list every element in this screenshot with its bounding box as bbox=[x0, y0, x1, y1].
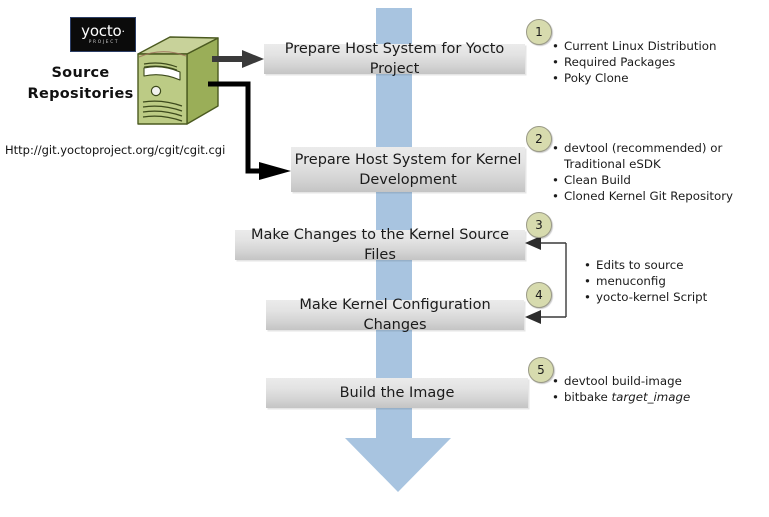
list-item: yocto-kernel Script bbox=[584, 289, 707, 305]
server-icon bbox=[130, 32, 222, 142]
steps3-4-shared-bullet-list: Edits to source menuconfig yocto-kernel … bbox=[584, 257, 707, 305]
logo-wordmark: yocto· bbox=[81, 24, 125, 39]
step-number-badge-3: 3 bbox=[526, 212, 552, 238]
source-repositories-line1: Source bbox=[18, 63, 143, 84]
step-number-badge-4: 4 bbox=[526, 282, 552, 308]
step-number-badge-1: 1 bbox=[526, 19, 552, 45]
step-number-badge-2: 2 bbox=[526, 126, 552, 152]
source-repositories-line2: Repositories bbox=[18, 84, 143, 105]
process-box-prepare-host-kernel[interactable]: Prepare Host System for Kernel Developme… bbox=[291, 147, 525, 192]
step-number-badge-5: 5 bbox=[528, 357, 554, 383]
list-item: Current Linux Distribution bbox=[552, 38, 716, 54]
step-number-text: 1 bbox=[535, 25, 543, 39]
list-item: Edits to source bbox=[584, 257, 707, 273]
list-item: Clean Build bbox=[552, 172, 733, 188]
process-box-make-kernel-config-changes[interactable]: Make Kernel Configuration Changes bbox=[266, 300, 524, 330]
workflow-spine-arrowhead-icon bbox=[345, 438, 451, 492]
logo-wordmark-text: yocto bbox=[81, 22, 121, 40]
process-box-label: Prepare Host System for Yocto Project bbox=[264, 39, 525, 79]
logo-subtext: PROJECT bbox=[89, 40, 119, 46]
list-item: Required Packages bbox=[552, 54, 716, 70]
list-item: Cloned Kernel Git Repository bbox=[552, 188, 733, 204]
step-number-text: 3 bbox=[535, 218, 543, 232]
bracket-connector-steps-3-4 bbox=[525, 236, 566, 324]
process-box-label: Make Changes to the Kernel Source Files bbox=[235, 225, 525, 265]
process-box-prepare-host-yocto[interactable]: Prepare Host System for Yocto Project bbox=[264, 44, 525, 74]
step-number-text: 5 bbox=[537, 363, 545, 377]
list-item: Poky Clone bbox=[552, 70, 716, 86]
list-item: devtool build-image bbox=[552, 373, 690, 389]
source-repositories-url: Http://git.yoctoproject.org/cgit/cgit.cg… bbox=[5, 143, 225, 157]
list-item: devtool (recommended) or bbox=[552, 140, 733, 156]
list-item: menuconfig bbox=[584, 273, 707, 289]
step5-bullet-list: devtool build-image bitbake target_image bbox=[552, 373, 690, 405]
process-box-label: Prepare Host System for Kernel Developme… bbox=[295, 150, 522, 190]
list-item-continuation: Traditional eSDK bbox=[552, 156, 733, 172]
diagram-canvas: yocto· PROJECT Source Repositories Http:… bbox=[0, 0, 769, 517]
bitbake-command-target: target_image bbox=[612, 390, 691, 404]
process-box-label: Build the Image bbox=[340, 383, 455, 403]
process-box-label-line1: Prepare Host System for Kernel bbox=[295, 152, 522, 168]
bitbake-command-prefix: bitbake bbox=[564, 390, 612, 404]
process-box-make-kernel-source-changes[interactable]: Make Changes to the Kernel Source Files bbox=[235, 230, 525, 260]
process-box-label: Make Kernel Configuration Changes bbox=[266, 295, 524, 335]
step1-bullet-list: Current Linux Distribution Required Pack… bbox=[552, 38, 716, 86]
step-number-text: 4 bbox=[535, 288, 543, 302]
yocto-project-logo: yocto· PROJECT bbox=[70, 17, 136, 52]
step-number-text: 2 bbox=[535, 132, 543, 146]
process-box-label-line2: Development bbox=[359, 172, 457, 188]
logo-dot-icon: · bbox=[122, 25, 125, 38]
process-box-build-the-image[interactable]: Build the Image bbox=[266, 378, 528, 408]
source-repositories-label: Source Repositories bbox=[18, 63, 143, 105]
list-item: bitbake target_image bbox=[552, 389, 690, 405]
step2-bullet-list: devtool (recommended) or Traditional eSD… bbox=[552, 140, 733, 204]
